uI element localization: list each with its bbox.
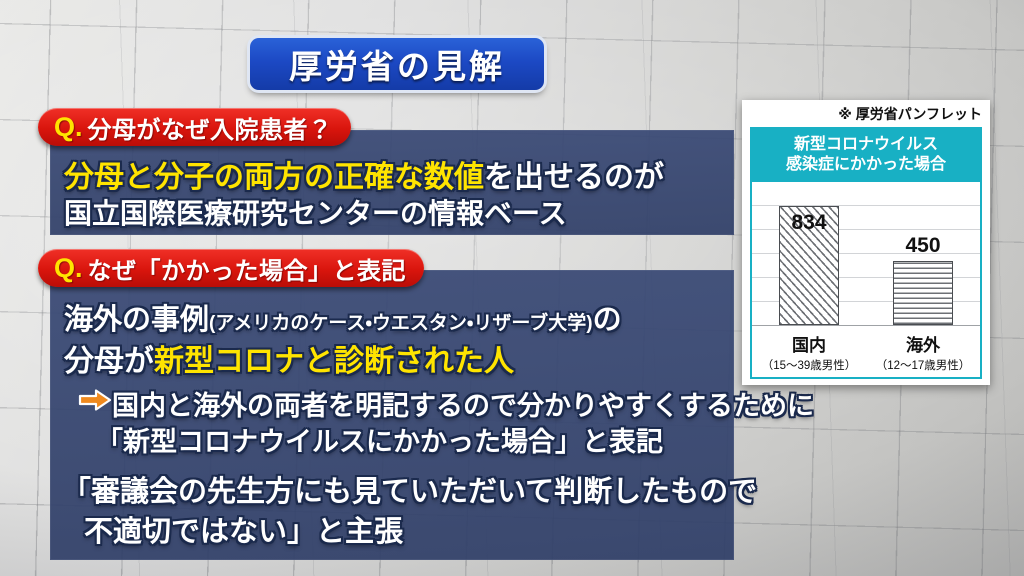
- page-title: 厚労省の見解: [289, 40, 505, 88]
- chart-plot-area: 834 450: [752, 182, 980, 326]
- answer-2-line-1-tail: の: [593, 304, 622, 336]
- chart-frame: 新型コロナウイルス 感染症にかかった場合 834 450 国内 海外 （15〜3…: [750, 127, 982, 379]
- answer-2-line-2-lead: 分母が: [64, 345, 154, 378]
- answer-2-line-2: 分母が新型コロナと診断された人: [64, 336, 514, 380]
- answer-2-line-4: 「新型コロナウイルスにかかった場合」と表記: [96, 420, 663, 459]
- pamphlet-chart-card: ※ 厚労省パンフレット 新型コロナウイルス 感染症にかかった場合 834 450…: [742, 100, 990, 385]
- question-mark-label-2: Q.: [54, 253, 83, 284]
- answer-2-line-2-highlight: 新型コロナと診断された人: [154, 345, 514, 378]
- answer-2-line-1-paren: (アメリカのケース・ウエスタン・リザーブ大学): [209, 313, 593, 334]
- question-mark-label-1: Q.: [54, 112, 83, 143]
- answer-1-line-1: 分母と分子の両方の正確な数値を出せるのが: [64, 152, 664, 196]
- question-text-2: なぜ「かかった場合」と表記: [88, 251, 407, 286]
- answer-2-line-1-main: 海外の事例: [64, 304, 209, 336]
- chart-source-note: ※ 厚労省パンフレット: [742, 100, 990, 127]
- chart-category-row: 国内 海外: [752, 326, 980, 357]
- chart-sublabel-kaigai: （12〜17歳男性）: [866, 357, 980, 373]
- chart-category-kokunai: 国内: [752, 331, 866, 356]
- chart-title-line-2: 感染症にかかった場合: [754, 155, 978, 175]
- answer-1-line-1-highlight: 分母と分子の両方の正確な数値: [64, 161, 484, 194]
- answer-2-line-1: 海外の事例(アメリカのケース・ウエスタン・リザーブ大学)の: [64, 296, 622, 338]
- question-badge-2: Q. なぜ「かかった場合」と表記: [38, 249, 424, 287]
- chart-bar-value-kaigai: 450: [905, 234, 940, 258]
- arrow-right-icon: [78, 388, 112, 412]
- chart-category-kaigai: 海外: [866, 331, 980, 356]
- answer-2-line-3: 国内と海外の両者を明記するので分かりやすくするために: [112, 384, 814, 423]
- chart-sublabel-kokunai: （15〜39歳男性）: [752, 357, 866, 373]
- question-text-1: 分母がなぜ入院患者？: [88, 110, 333, 145]
- page-title-plate: 厚労省の見解: [250, 38, 544, 90]
- chart-bar-value-kokunai: 834: [791, 211, 826, 235]
- broadcast-graphic-stage: 厚労省の見解 Q. 分母がなぜ入院患者？ 分母と分子の両方の正確な数値を出せるの…: [0, 0, 1024, 576]
- answer-1-line-1-rest: を出せるのが: [484, 161, 664, 194]
- chart-title: 新型コロナウイルス 感染症にかかった場合: [752, 129, 980, 182]
- chart-title-line-1: 新型コロナウイルス: [754, 135, 978, 155]
- answer-1-line-2: 国立国際医療研究センターの情報ベース: [64, 192, 567, 232]
- question-badge-1: Q. 分母がなぜ入院患者？: [38, 108, 351, 146]
- answer-2-line-5: 「審議会の先生方にも見ていただいて判断したもので: [62, 468, 757, 510]
- answer-2-line-6: 不適切ではない」と主張: [84, 508, 403, 550]
- chart-sublabel-row: （15〜39歳男性） （12〜17歳男性）: [752, 357, 980, 377]
- chart-bar-kaigai: [893, 261, 952, 325]
